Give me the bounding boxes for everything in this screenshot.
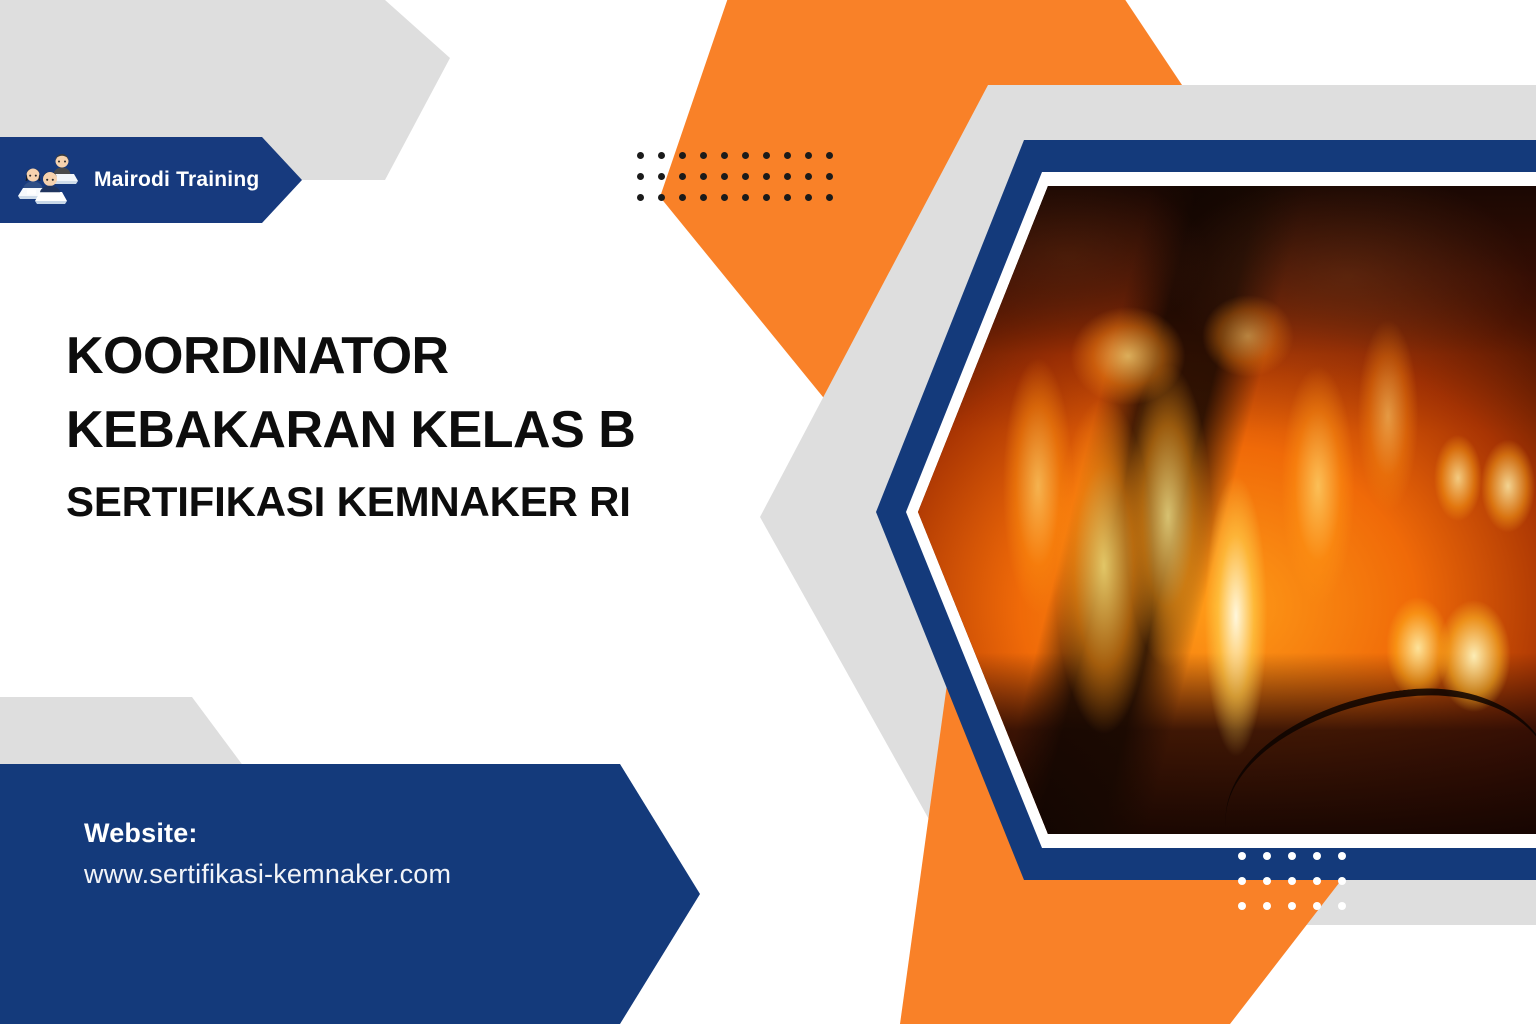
white-hexagon-inner-border <box>906 172 1536 848</box>
dot <box>1338 902 1346 910</box>
orange-polygon-bottom <box>900 590 1380 1024</box>
dot <box>1338 877 1346 885</box>
website-label: Website: <box>84 818 604 849</box>
dot <box>742 152 749 159</box>
dot <box>1313 902 1321 910</box>
brand-name: Mairodi Training <box>94 168 259 192</box>
dot <box>1263 902 1271 910</box>
dot <box>1263 877 1271 885</box>
dot <box>679 194 686 201</box>
headline-block: KOORDINATOR KEBAKARAN KELAS B SERTIFIKAS… <box>66 320 786 528</box>
dot <box>805 152 812 159</box>
dot <box>721 173 728 180</box>
training-people-icon <box>14 152 88 208</box>
smoke-haze <box>918 186 1536 834</box>
brand-logo-banner[interactable]: Mairodi Training <box>0 137 302 223</box>
dot <box>658 152 665 159</box>
dot <box>763 152 770 159</box>
dot <box>805 194 812 201</box>
dot <box>637 152 644 159</box>
dot <box>679 152 686 159</box>
dot <box>1288 877 1296 885</box>
dot <box>826 152 833 159</box>
dot <box>1238 902 1246 910</box>
dot <box>1288 902 1296 910</box>
dot <box>1338 852 1346 860</box>
dot <box>1288 852 1296 860</box>
dot <box>1313 877 1321 885</box>
dot <box>784 194 791 201</box>
dot <box>784 173 791 180</box>
dot <box>826 194 833 201</box>
dot <box>763 173 770 180</box>
headline-line-1: KOORDINATOR <box>66 320 786 394</box>
dot <box>805 173 812 180</box>
dot <box>637 173 644 180</box>
dot <box>1238 877 1246 885</box>
dot-grid-bottom <box>1238 852 1363 927</box>
dot <box>700 194 707 201</box>
dot <box>784 152 791 159</box>
dot <box>826 173 833 180</box>
dot <box>679 173 686 180</box>
dot <box>658 173 665 180</box>
fire-hose <box>1212 673 1536 829</box>
dot <box>742 194 749 201</box>
dot <box>721 152 728 159</box>
dot <box>721 194 728 201</box>
dot <box>1263 852 1271 860</box>
dot <box>658 194 665 201</box>
dot <box>763 194 770 201</box>
dot <box>637 194 644 201</box>
fire-photo-hexagon <box>918 186 1536 834</box>
burning-building-fire-photo <box>918 186 1536 834</box>
dot <box>1313 852 1321 860</box>
dot <box>700 173 707 180</box>
promotional-banner: Mairodi Training KOORDINATOR KEBAKARAN K… <box>0 0 1536 1024</box>
website-url[interactable]: www.sertifikasi-kemnaker.com <box>84 859 604 890</box>
dot-grid-top <box>637 152 847 215</box>
dot <box>1238 852 1246 860</box>
footer-banner <box>0 764 700 1024</box>
dot <box>742 173 749 180</box>
headline-line-3: SERTIFIKASI KEMNAKER RI <box>66 476 786 529</box>
website-block: Website: www.sertifikasi-kemnaker.com <box>84 818 604 890</box>
headline-line-2: KEBAKARAN KELAS B <box>66 394 786 468</box>
dot <box>700 152 707 159</box>
navy-hexagon-frame <box>876 140 1536 880</box>
grey-hexagon-backdrop <box>760 85 1536 925</box>
